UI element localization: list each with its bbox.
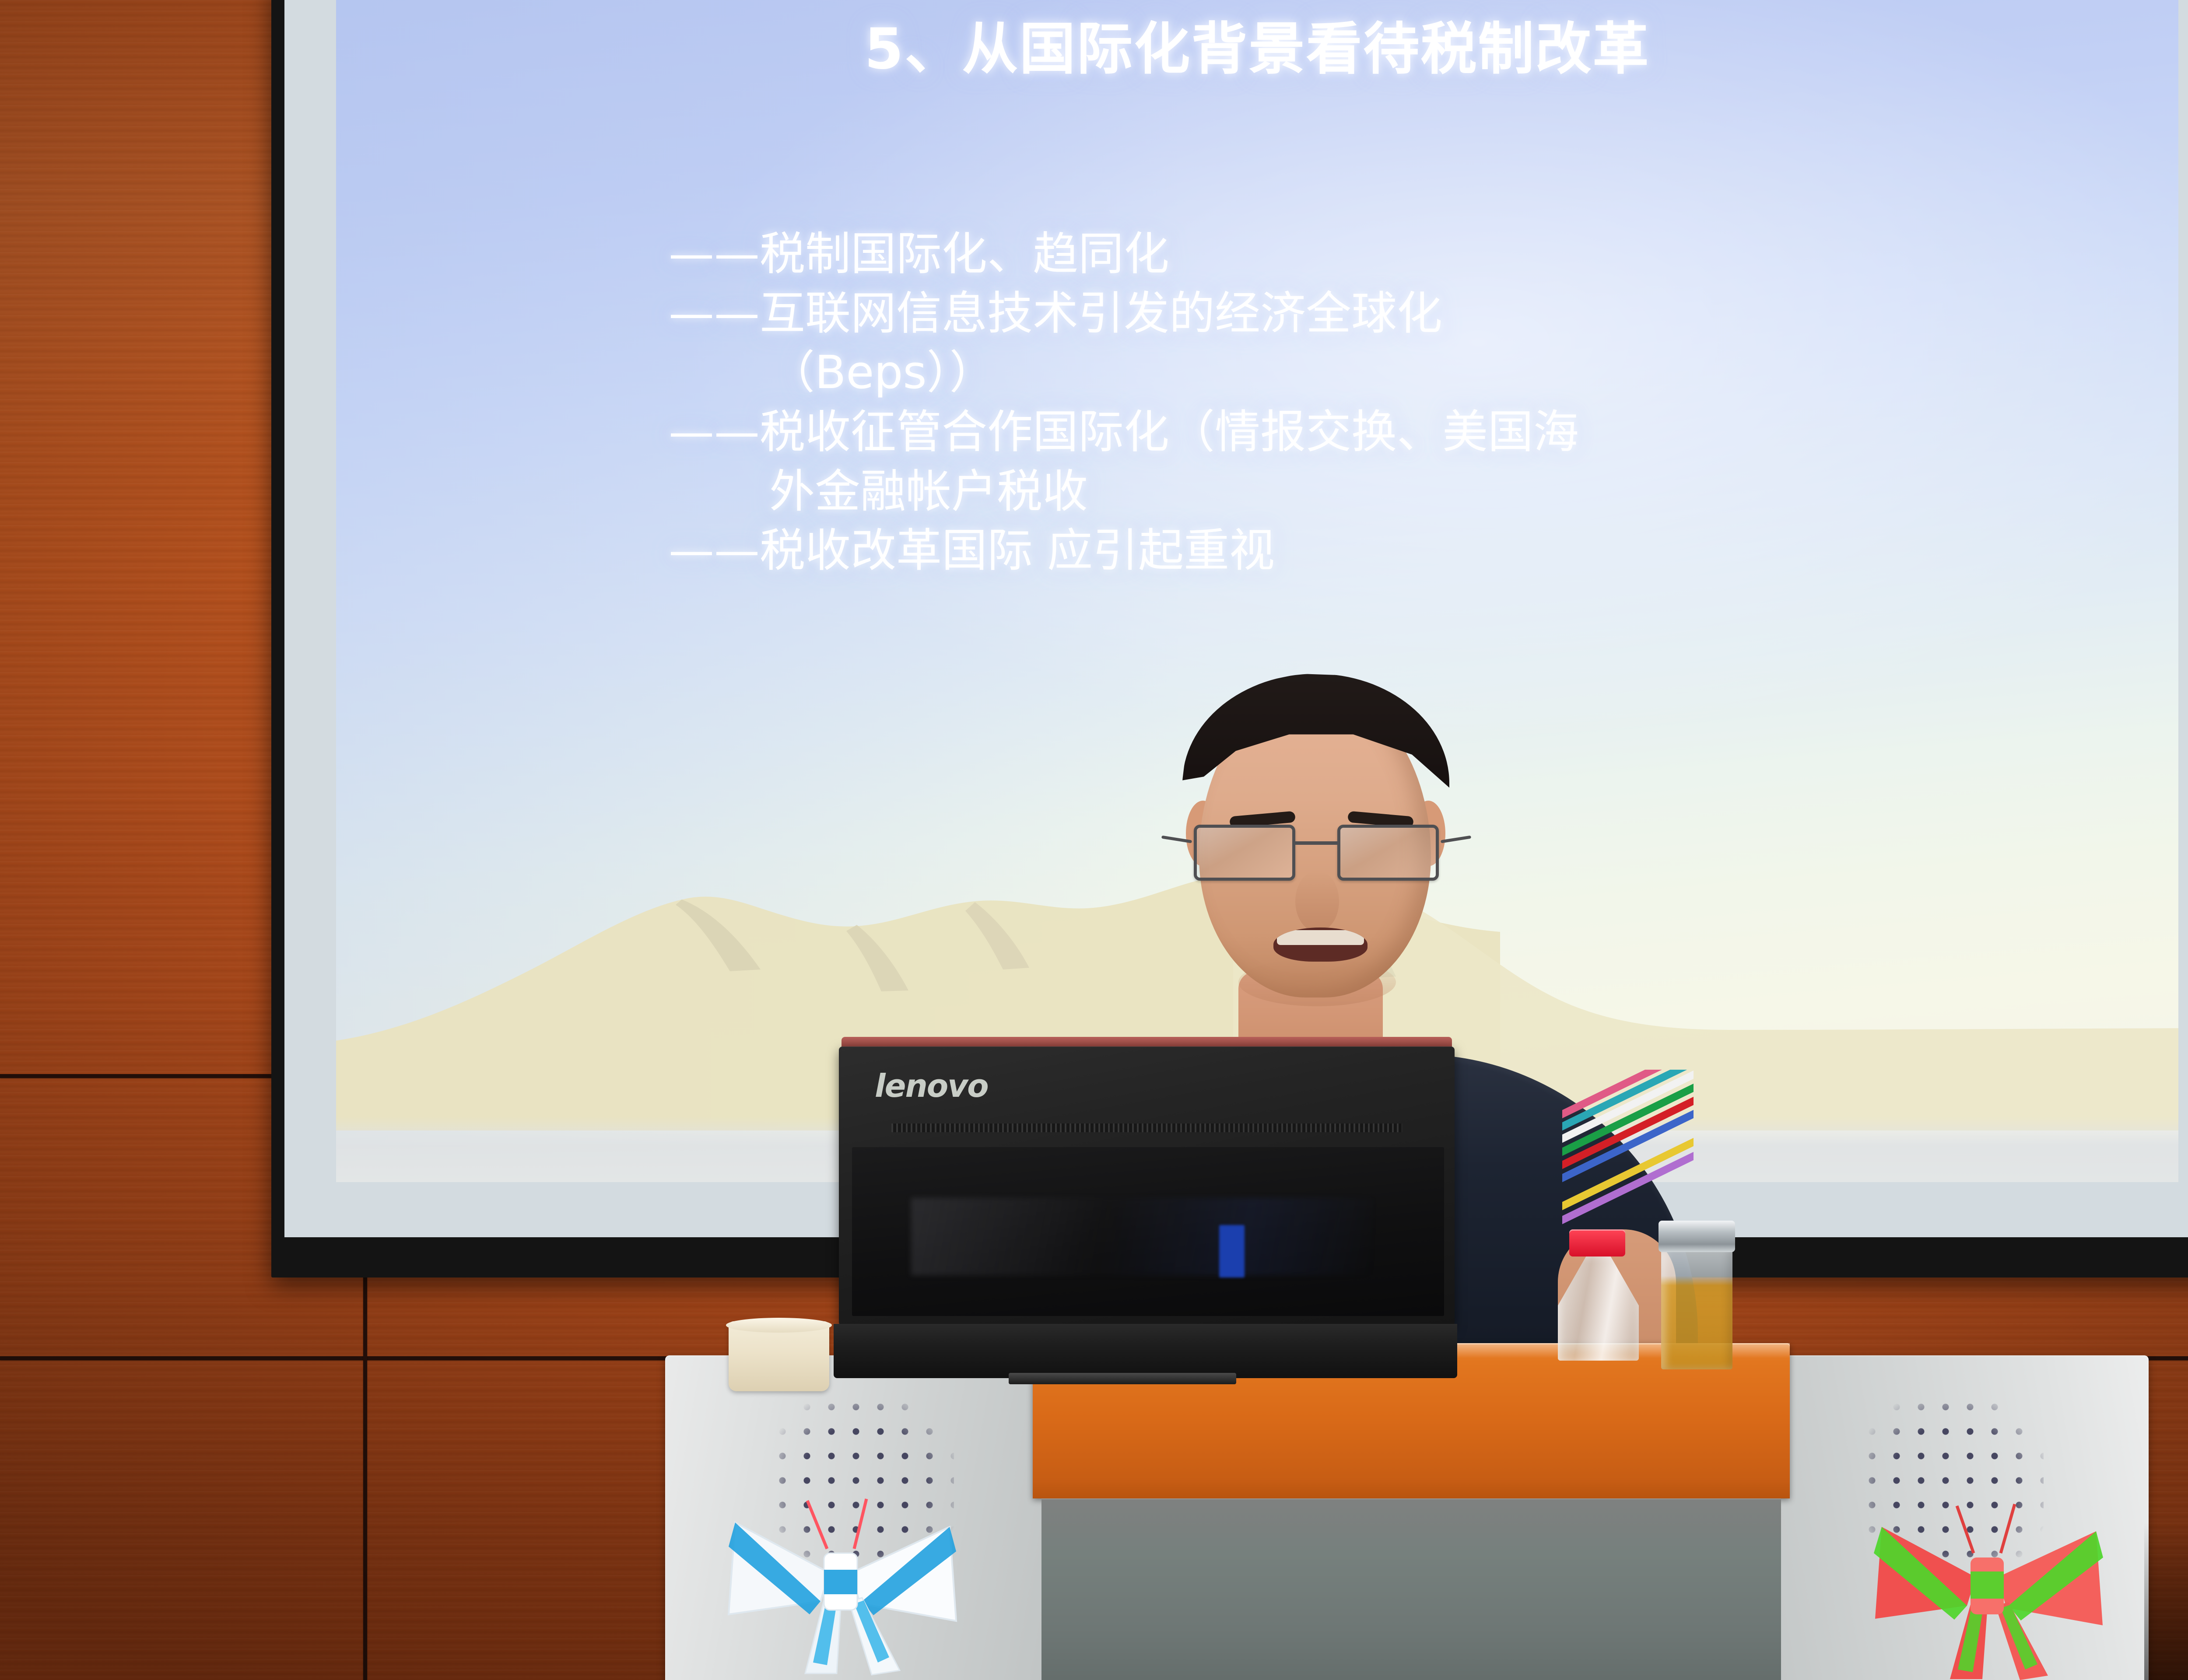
- mouth: [1273, 927, 1367, 962]
- slide-title: 5、从国际化背景看待税制改革: [336, 3, 2178, 84]
- teeth: [1277, 930, 1364, 945]
- slide-bullet-3: （Beps））: [669, 346, 2126, 399]
- laptop-screen: [852, 1147, 1444, 1316]
- podium-base-panel: [1041, 1498, 1781, 1680]
- screen-reflection-blue: [1219, 1225, 1245, 1277]
- screen-reflection: [911, 1198, 1373, 1276]
- slide-bullet-2: ——互联网信息技术引发的经济全球化: [669, 287, 2126, 340]
- laptop-base: [834, 1324, 1457, 1378]
- ribbon-bow-right: [1864, 1474, 2109, 1680]
- laptop-stand-foot: [1009, 1373, 1236, 1384]
- glasses-bridge: [1294, 841, 1339, 845]
- paper-cup: [729, 1321, 829, 1391]
- lens-left: [1194, 825, 1295, 881]
- slide-bullet-list: ——税制国际化、趋同化 ——互联网信息技术引发的经济全球化 （Beps）） ——…: [669, 227, 2126, 584]
- photo-scene: 5、从国际化背景看待税制改革 ——税制国际化、趋同化 ——互联网信息技术引发的经…: [0, 0, 2188, 1680]
- laptop-vent: [891, 1123, 1402, 1132]
- lenovo-logo: lenovo: [875, 1067, 988, 1104]
- slide-bullet-6: ——税收改革国际 应引起重视: [669, 524, 2126, 577]
- podium-assembly: [665, 1343, 2149, 1680]
- laptop-lenovo: lenovo: [834, 1037, 1457, 1378]
- floor-shadow: [2144, 1522, 2188, 1680]
- tea-glass: [1659, 1221, 1735, 1369]
- nose: [1295, 871, 1339, 932]
- bottle-cap: [1569, 1229, 1625, 1256]
- lens-right: [1337, 825, 1439, 881]
- slide-bullet-4: ——税收征管合作国际化（情报交换、美国海: [669, 406, 2126, 459]
- bottle-body: [1558, 1255, 1639, 1361]
- slide-bullet-1: ——税制国际化、趋同化: [669, 227, 2126, 281]
- ribbon-bow-left: [718, 1470, 963, 1676]
- glass-body: [1661, 1249, 1732, 1369]
- laptop-lid: lenovo: [839, 1046, 1455, 1326]
- chin: [1238, 958, 1396, 1006]
- glass-lid: [1659, 1221, 1735, 1252]
- water-bottle: [1558, 1229, 1639, 1361]
- slide-bullet-5: 外金融帐户税收: [669, 465, 2126, 518]
